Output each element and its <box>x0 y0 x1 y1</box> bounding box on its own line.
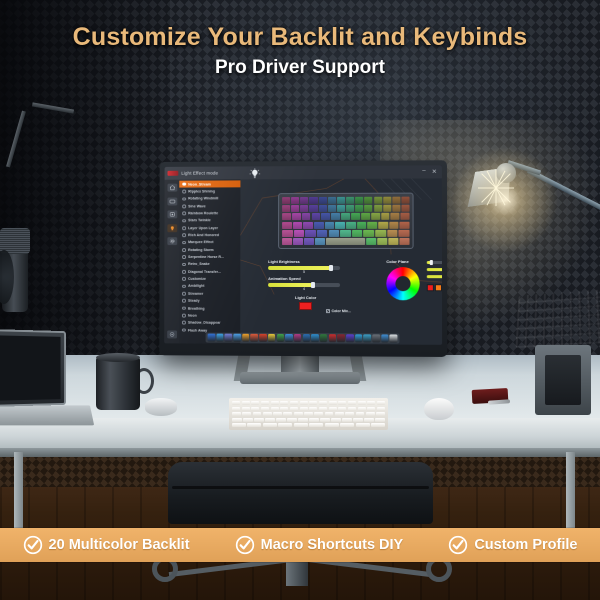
keyboard-key[interactable] <box>387 230 398 237</box>
keyboard-key[interactable] <box>300 205 308 212</box>
slider-knob[interactable] <box>429 260 432 265</box>
effect-label: Neon <box>188 313 197 317</box>
effect-radio[interactable] <box>182 255 186 259</box>
computer-mouse <box>424 398 454 420</box>
keyboard-key[interactable] <box>389 221 399 228</box>
keyboard-key[interactable] <box>374 205 382 212</box>
desk-keyboard-key <box>261 407 269 411</box>
effect-label: Ambilight <box>188 284 204 288</box>
monitor-screen: Light Effect mode – ✕ <box>164 165 442 345</box>
desk-keyboard-key <box>367 407 375 411</box>
effect-label: Stars Twinkle <box>188 219 211 223</box>
lightbulb-icon[interactable] <box>249 168 260 179</box>
desk-keyboard-key <box>290 407 298 411</box>
effect-radio[interactable] <box>182 270 186 274</box>
dock-app-icon[interactable] <box>251 334 258 342</box>
desk-keyboard-key <box>331 418 341 422</box>
desk-keyboard-key <box>242 412 251 416</box>
desk-keyboard-key <box>280 401 288 405</box>
dock-app-icon[interactable] <box>233 334 240 342</box>
feature-badge: Custom Profile <box>448 535 577 555</box>
keyboard-key[interactable] <box>328 205 336 212</box>
desk-keyboard-key <box>247 423 261 427</box>
home-icon <box>169 185 175 191</box>
desk-keyboard-key <box>294 423 308 427</box>
keyboard-key[interactable] <box>346 197 354 204</box>
dock-app-icon[interactable] <box>346 335 354 343</box>
desk-keyboard-key <box>242 401 250 405</box>
keyboard-key[interactable] <box>365 205 373 212</box>
desk-keyboard-key <box>263 423 277 427</box>
app-titlebar: Light Effect mode – ✕ <box>165 165 442 179</box>
keyboard-key[interactable] <box>365 197 373 204</box>
desk-keyboard-key <box>325 423 339 427</box>
brightness-value: 5 <box>268 270 340 274</box>
dock-app-icon[interactable] <box>337 335 345 343</box>
lamp-light-star-icon <box>478 170 514 206</box>
color-plane-panel: Color Plane <box>386 259 442 301</box>
dock-app-icon[interactable] <box>390 335 398 343</box>
desk-keyboard-key <box>290 401 298 405</box>
desk-keyboard-key <box>377 401 385 405</box>
keyboard-key[interactable] <box>355 205 363 212</box>
coffee-mug <box>96 357 140 410</box>
desk-keyboard-key <box>319 407 327 411</box>
desk-keyboard-key <box>367 401 375 405</box>
effect-list-item[interactable]: Rich And Honored <box>179 232 240 239</box>
desk-keyboard-key <box>280 407 288 411</box>
keyboard-key[interactable] <box>293 238 303 245</box>
desk-keyboard-row <box>232 407 385 411</box>
keyboard-key[interactable] <box>337 197 345 204</box>
effect-radio[interactable] <box>182 277 186 281</box>
desk-keyboard-key <box>300 401 308 405</box>
effect-radio[interactable] <box>182 314 186 318</box>
keyboard-key[interactable] <box>375 230 386 237</box>
dock-app-icon[interactable] <box>355 335 363 343</box>
lightbulb-icon <box>169 225 175 231</box>
desk-keyboard-key <box>348 407 356 411</box>
keyboard-key[interactable] <box>291 205 299 212</box>
dock-app-icon[interactable] <box>294 334 301 342</box>
gear-icon <box>169 238 175 244</box>
desk-keyboard-key <box>232 412 241 416</box>
desk-keyboard-key <box>287 418 297 422</box>
dock-app-icon[interactable] <box>208 334 215 342</box>
keyboard-key[interactable] <box>383 205 391 212</box>
os-dock[interactable] <box>164 328 442 344</box>
keyboard-key[interactable] <box>329 230 340 237</box>
dock-app-icon[interactable] <box>216 334 223 342</box>
feature-label: 20 Multicolor Backlit <box>49 537 190 553</box>
dock-app-icon[interactable] <box>381 335 389 343</box>
effect-radio[interactable] <box>182 204 186 208</box>
effect-list-item[interactable]: Stars Twinkle <box>179 217 240 224</box>
dock-app-icon[interactable] <box>364 335 372 343</box>
feature-label: Macro Shortcuts DIY <box>261 537 404 553</box>
brightness-slider[interactable] <box>268 265 340 269</box>
desk-keyboard-key <box>278 423 292 427</box>
keyboard-key[interactable] <box>378 238 388 245</box>
sidebar-item-keyboard[interactable] <box>167 197 177 205</box>
effect-list-item[interactable]: Layer Upon Layer <box>179 224 240 231</box>
keyboard-key[interactable] <box>335 221 345 228</box>
keyboard-key[interactable] <box>400 221 410 228</box>
dock-app-icon[interactable] <box>242 334 249 342</box>
sidebar-item-home[interactable] <box>167 184 177 192</box>
keyboard-key[interactable] <box>291 197 299 204</box>
desk-keyboard-key <box>242 407 250 411</box>
desk-keyboard-key <box>309 418 319 422</box>
color-wheel[interactable] <box>386 267 419 300</box>
dock-app-icon[interactable] <box>303 334 311 342</box>
keyboard-key[interactable] <box>321 213 330 220</box>
desk-keyboard-key <box>232 401 240 405</box>
desk-keyboard-key <box>329 407 337 411</box>
app-title: Light Effect mode <box>181 171 218 176</box>
color-plane-slider-saturation[interactable] <box>427 268 442 271</box>
desk-keyboard-key <box>273 412 282 416</box>
keyboard-key[interactable] <box>309 205 317 212</box>
speaker-driver <box>545 355 581 405</box>
effect-radio[interactable] <box>182 226 186 230</box>
desk-keyboard-key <box>342 418 352 422</box>
desktop-keyboard <box>229 398 388 430</box>
smart-speaker <box>145 398 177 416</box>
desk-keyboard-key <box>377 407 385 411</box>
speed-label: Animation Speed <box>268 276 368 281</box>
effect-label: Steady <box>188 299 200 303</box>
desk-keyboard-key <box>251 401 259 405</box>
desk-keyboard-key <box>265 418 275 422</box>
light-controls-panel: Light Brightness 5 Animation Speed 4 <box>268 259 368 291</box>
keyboard-key[interactable] <box>326 238 366 245</box>
effect-radio[interactable] <box>182 183 186 187</box>
keyboard-key[interactable] <box>337 205 345 212</box>
dock-app-icon[interactable] <box>225 334 232 342</box>
desk-keyboard-key <box>358 407 366 411</box>
keyboard-key[interactable] <box>391 213 400 220</box>
keyboard-key[interactable] <box>357 221 367 228</box>
window-buttons[interactable]: – ✕ <box>422 168 442 175</box>
desk-keyboard-key <box>345 412 354 416</box>
keyboard-key[interactable] <box>312 213 321 220</box>
effect-label: Rotating Windmill <box>188 197 218 201</box>
keyboard-row <box>282 205 409 212</box>
desk-keyboard-key <box>319 401 327 405</box>
desk-keyboard-key <box>325 412 334 416</box>
close-button[interactable]: ✕ <box>432 168 437 175</box>
desk-keyboard-key <box>356 423 370 427</box>
keyboard-key[interactable] <box>303 222 313 229</box>
desk-keyboard-key <box>364 418 374 422</box>
desk-keyboard-key <box>335 412 344 416</box>
color-swatch[interactable] <box>435 284 442 291</box>
keyboard-key[interactable] <box>361 213 370 220</box>
keyboard-key[interactable] <box>282 205 290 212</box>
promo-title: Customize Your Backlit and Keybinds <box>0 23 600 52</box>
effect-list-item[interactable]: Marquee Effect <box>179 239 240 246</box>
mug-rim <box>96 353 140 362</box>
keyboard-key[interactable] <box>282 238 292 245</box>
effect-label: Rotating Storm <box>188 248 214 252</box>
desk-keyboard-key <box>232 407 240 411</box>
check-circle-icon <box>23 535 43 555</box>
scene: Customize Your Backlit and Keybinds Pro … <box>0 0 600 600</box>
effect-list-item[interactable]: Retro_Snake <box>179 261 240 268</box>
keyboard-key[interactable] <box>300 197 308 204</box>
keyboard-key[interactable] <box>325 222 335 229</box>
keyboard-row <box>282 238 409 245</box>
effect-list-item[interactable]: Streamer <box>179 290 240 297</box>
desk-keyboard-key <box>366 412 375 416</box>
desk-keyboard-key <box>253 412 262 416</box>
keyboard-key[interactable] <box>399 230 410 237</box>
desk-keyboard-key <box>254 418 264 422</box>
keyboard-key[interactable] <box>292 213 301 220</box>
color-plane-slider-value[interactable] <box>427 275 442 279</box>
feature-label: Custom Profile <box>474 537 577 553</box>
keyboard-key[interactable] <box>282 197 290 204</box>
keyboard-icon <box>169 198 175 204</box>
effect-radio[interactable] <box>182 263 186 267</box>
effect-radio[interactable] <box>182 212 186 216</box>
effect-radio[interactable] <box>182 306 186 310</box>
desk-keyboard-key <box>251 407 259 411</box>
desk-keyboard-key <box>375 418 385 422</box>
desk-keyboard-key <box>309 423 323 427</box>
desk-keyboard-key <box>298 418 308 422</box>
dock-app-icon[interactable] <box>259 334 266 342</box>
dock-app-icon[interactable] <box>277 334 284 342</box>
desk-edge <box>0 448 600 457</box>
promo-header: Customize Your Backlit and Keybinds Pro … <box>0 0 600 92</box>
color-plane-sliders[interactable] <box>427 261 442 282</box>
feature-badge-band: 20 Multicolor BacklitMacro Shortcuts DIY… <box>0 528 600 562</box>
keyboard-key[interactable] <box>401 205 409 212</box>
keyboard-key[interactable] <box>302 213 311 220</box>
color-mix-checkbox[interactable]: ✓ <box>326 309 330 313</box>
effect-list-item[interactable]: Ambilight <box>179 283 240 290</box>
desk-keyboard-key <box>358 401 366 405</box>
keyboard-key[interactable] <box>401 197 409 204</box>
dock-app-icon[interactable] <box>285 334 292 342</box>
desk-keyboard-key <box>271 401 279 405</box>
keyboard-key[interactable] <box>381 213 390 220</box>
keyboard-key[interactable] <box>319 197 327 204</box>
light-color-swatch[interactable] <box>299 302 312 310</box>
effects-list[interactable]: Neon_StreamRipples ShiningRotating Windm… <box>179 179 240 343</box>
color-plane-slider-hue[interactable] <box>427 261 442 264</box>
desk-keyboard-key <box>338 401 346 405</box>
keyboard-key[interactable] <box>392 205 400 212</box>
speed-value: 4 <box>268 287 340 291</box>
check-circle-icon <box>448 535 468 555</box>
brand-logo-icon <box>168 171 179 176</box>
keyboard-row <box>282 230 409 237</box>
keyboard-row <box>282 221 409 228</box>
keyboard-key[interactable] <box>282 222 292 229</box>
keyboard-key[interactable] <box>371 213 380 220</box>
desk-keyboard-key <box>348 401 356 405</box>
keyboard-key[interactable] <box>331 213 340 220</box>
desk-keyboard-key <box>294 412 303 416</box>
desk-keyboard-row <box>232 423 385 427</box>
effect-label: Retro_Snake <box>188 262 210 266</box>
desk-keyboard-key <box>232 418 242 422</box>
keyboard-key[interactable] <box>328 197 336 204</box>
keyboard-key[interactable] <box>392 197 400 204</box>
effect-label: Sine Wave <box>188 204 206 208</box>
keyboard-key[interactable] <box>305 230 316 237</box>
dock-app-icon[interactable] <box>268 334 275 342</box>
sidebar-item-macro[interactable] <box>167 210 177 218</box>
keyboard-key[interactable] <box>366 238 376 245</box>
effect-radio[interactable] <box>182 299 186 303</box>
effect-radio[interactable] <box>182 248 186 252</box>
desk-keyboard-key <box>232 423 246 427</box>
effect-radio[interactable] <box>182 190 186 194</box>
effect-list-item[interactable]: Customize <box>179 275 240 282</box>
keyboard-key[interactable] <box>282 213 291 220</box>
keyboard-key[interactable] <box>341 213 350 220</box>
desk-keyboard-key <box>309 407 317 411</box>
color-mix-label: Color Mix... <box>331 309 350 313</box>
desk-keyboard-key <box>300 407 308 411</box>
feature-badge: 20 Multicolor Backlit <box>23 535 190 555</box>
effect-radio[interactable] <box>182 233 186 237</box>
effect-label: Serpentine Horse R... <box>188 255 224 259</box>
desk-keyboard-key <box>276 418 286 422</box>
keyboard-key[interactable] <box>374 197 382 204</box>
dock-app-icon[interactable] <box>311 334 319 342</box>
keyboard-key[interactable] <box>314 222 324 229</box>
keyboard-key[interactable] <box>282 230 293 237</box>
desk-keyboard-key <box>353 418 363 422</box>
keyboard-key[interactable] <box>309 197 317 204</box>
effect-label: Rich And Honored <box>188 233 219 237</box>
check-circle-icon <box>235 535 255 555</box>
desk-keyboard-key <box>320 418 330 422</box>
desk-keyboard-key <box>304 412 313 416</box>
desk-keyboard-row <box>232 412 385 416</box>
desk-keyboard-key <box>263 412 272 416</box>
desk-keyboard-key <box>243 418 253 422</box>
light-color-block: Light Color <box>295 295 316 310</box>
desk-keyboard-key <box>356 412 365 416</box>
effect-list-item[interactable]: Rotating Storm <box>179 246 240 253</box>
sidebar-item-light-effect[interactable] <box>167 224 177 232</box>
effect-list-item[interactable]: Diagonal Transfer... <box>179 268 240 275</box>
effect-label: Diagonal Transfer... <box>188 270 221 274</box>
desk-keyboard-row <box>232 418 385 422</box>
laptop-keyboard-base <box>0 405 94 425</box>
sidebar-item-settings[interactable] <box>167 237 177 245</box>
desk-keyboard-key <box>314 412 323 416</box>
effect-radio[interactable] <box>182 292 186 296</box>
dock-app-icon[interactable] <box>372 335 380 343</box>
effect-label: Layer Upon Layer <box>188 226 218 230</box>
brightness-label: Light Brightness <box>268 259 368 264</box>
keyboard-key[interactable] <box>383 197 391 204</box>
app-sidebar-rail <box>164 180 179 344</box>
monitor-stand-base <box>240 372 360 384</box>
effect-label: Rainbow Roulette <box>188 211 218 215</box>
color-mix-row[interactable]: ✓ Color Mix... <box>326 309 351 313</box>
desk-keyboard-key <box>261 401 269 405</box>
keyboard-key[interactable] <box>319 205 327 212</box>
dock-app-icon[interactable] <box>329 335 337 343</box>
effect-radio[interactable] <box>182 284 186 288</box>
minimize-button[interactable]: – <box>422 168 425 175</box>
desk-keyboard-key <box>329 401 337 405</box>
keyboard-key[interactable] <box>368 221 378 228</box>
light-color-label: Light Color <box>295 295 316 300</box>
effects-preview-panel: Light Brightness 5 Animation Speed 4 <box>240 178 442 344</box>
effect-label: Streamer <box>188 292 203 296</box>
effect-radio[interactable] <box>182 321 186 325</box>
keyboard-key[interactable] <box>293 222 303 229</box>
keyboard-key[interactable] <box>346 205 354 212</box>
slider-fill <box>427 275 442 278</box>
effect-list-item[interactable]: Serpentine Horse R... <box>179 253 240 260</box>
chair-seam <box>172 486 429 489</box>
keyboard-key[interactable] <box>378 221 388 228</box>
keyboard-key[interactable] <box>352 230 363 237</box>
keyboard-key[interactable] <box>400 238 410 245</box>
keyboard-key[interactable] <box>340 230 351 237</box>
keyboard-row <box>282 213 409 220</box>
color-swatch[interactable] <box>427 284 434 291</box>
keyboard-key[interactable] <box>401 213 410 220</box>
effect-label: Breathing <box>188 306 205 310</box>
monitor: Light Effect mode – ✕ <box>159 160 447 357</box>
color-preset-swatches[interactable] <box>427 284 442 291</box>
promo-subtitle: Pro Driver Support <box>0 57 600 79</box>
keyboard-key[interactable] <box>294 230 305 237</box>
keyboard-key[interactable] <box>346 221 356 228</box>
audio-mixer <box>515 289 600 348</box>
slider-fill <box>427 268 442 271</box>
desk-keyboard-key <box>340 423 354 427</box>
effect-label: Ripples Shining <box>188 189 215 193</box>
laptop-waveform <box>0 335 61 401</box>
keyboard-key[interactable] <box>304 238 314 245</box>
effect-label: Shadow_Disappear <box>188 321 221 325</box>
desk-keyboard-key <box>283 412 292 416</box>
effect-radio[interactable] <box>182 241 186 245</box>
keyboard-key[interactable] <box>351 213 360 220</box>
speed-slider[interactable] <box>268 282 340 286</box>
dock-app-icon[interactable] <box>320 334 328 342</box>
desk-keyboard-key <box>376 412 385 416</box>
keyboard-key[interactable] <box>389 238 399 245</box>
desk-keyboard-key <box>338 407 346 411</box>
effect-radio[interactable] <box>182 197 186 201</box>
effect-radio[interactable] <box>182 219 186 223</box>
keyboard-row <box>282 197 409 205</box>
macro-icon <box>169 211 175 217</box>
keyboard-key[interactable] <box>355 197 363 204</box>
light-effect-app-window: Light Effect mode – ✕ <box>164 165 442 345</box>
keyboard-key[interactable] <box>364 230 375 237</box>
desk-keyboard-key <box>371 423 385 427</box>
keyboard-key[interactable] <box>315 238 325 245</box>
effect-label: Neon_Stream <box>188 182 211 186</box>
laptop-display <box>0 329 66 407</box>
effect-label: Marquee Effect <box>188 241 213 245</box>
keyboard-key[interactable] <box>317 230 328 237</box>
